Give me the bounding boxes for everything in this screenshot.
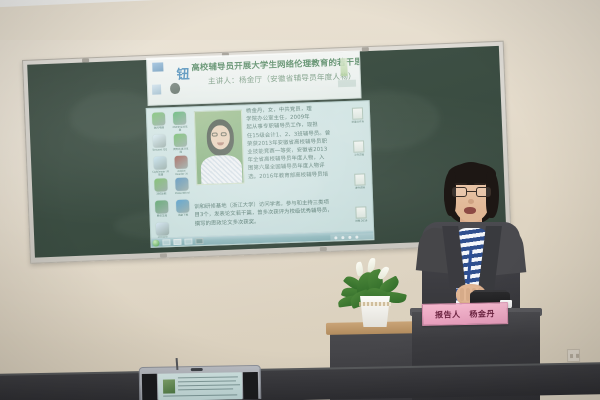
slide-body: 我的电脑360安全浏览器Tencent QQ搜狗高速浏览器CAJViewer 浏… [146,100,375,248]
desktop-file-icon[interactable]: 课件资料 [351,173,369,192]
flower-pot [358,296,392,327]
file-icon-label: 讲稿 2016 [353,219,370,226]
desktop-icon-label: CAJViewer 浏览器 [152,170,169,177]
desktop-file-icon[interactable]: 新建文件夹 [349,107,367,126]
desktop-file-icon[interactable]: 讲稿 2016 [352,206,370,225]
desktop-icon[interactable]: 360安全浏览器 [171,112,189,132]
placard-role-label: 报告人 [435,309,461,321]
file-icon-label: 新建文件夹 [349,120,366,127]
file-icon-label: 课件资料 [352,186,369,193]
laptop-speaker [142,374,157,400]
qq-penguin-icon [170,83,180,94]
status-strip [338,80,356,88]
taskbar-item[interactable] [162,240,170,246]
desktop-icon-label: PowerWord [174,191,191,198]
laptop-speaker [243,372,258,399]
file-icon-glyph [353,140,364,152]
laptop-slide-thumbnail [163,379,175,393]
desktop-icon[interactable]: 我的电脑 [150,112,168,132]
desktop-icon[interactable]: Tencent QQ [151,134,169,154]
windows-start-orb-icon[interactable] [152,239,159,246]
desktop-icon-glyph [155,200,168,213]
desktop-icon-glyph [175,178,188,191]
pot-decorative-band [359,302,391,306]
desktop-icon-glyph [176,200,189,213]
desktop-icon-glyph [174,134,187,147]
desktop-icon-label: 搜狗高速浏览器 [172,147,189,154]
desktop-icon[interactable]: 360压缩 [152,178,170,198]
desktop-icon-glyph [173,112,186,125]
system-tray[interactable] [330,233,374,241]
taskbar-item[interactable] [184,239,192,245]
shield-icon[interactable] [348,235,351,238]
desktop-icon-label: 360安全浏览器 [171,125,188,132]
slide-bio-text-wide: 训和研修基地（浙江大学）访问学者。参与和主持三类项目3个，发表论文若干篇，曾多次… [194,197,371,228]
file-icon-glyph [352,107,363,119]
name-placard: 报告人 杨金丹 [422,302,508,326]
eyeglasses-icon [452,187,492,198]
volume-icon[interactable] [341,236,344,239]
blackboard-clip [82,58,89,62]
file-icon-label: 工作文档 [350,153,367,160]
desktop-icon-label: 我的电脑 [150,126,167,133]
desktop-icon[interactable]: Adobe Reader XI [172,155,190,175]
slide-title: 高校辅导员开展大学生网络伦理教育的若干思考 [191,56,361,73]
app-icon [152,84,161,94]
desktop-icon-glyph [174,156,187,169]
laptop-screen[interactable] [158,372,242,400]
network-icon[interactable] [334,236,337,239]
brand-logo-icon: 钮 [176,63,189,82]
desktop-icon[interactable]: 腾讯文档 [153,200,171,220]
wall-power-outlet [567,349,580,362]
desktop-icon[interactable]: 迅雷下载 [174,199,192,219]
slide-title-band: 钮 高校辅导员开展大学生网络伦理教育的若干思考 主讲人：杨金厅（安徽省辅导员年度… [146,50,362,105]
desktop-icon-glyph [154,178,167,191]
desktop-icon-label: 腾讯文档 [153,214,170,221]
desktop-icon-glyph [153,156,166,169]
file-icon-glyph [354,173,365,185]
desktop-icon-glyph [153,134,166,147]
desktop-icon[interactable]: CAJViewer 浏览器 [151,156,169,176]
desktop-icon-label: 迅雷下载 [174,213,191,220]
desktop-icon[interactable]: PowerWord [173,177,191,197]
desktop-icon-column: 我的电脑360安全浏览器Tencent QQ搜狗高速浏览器CAJViewer 浏… [149,109,197,236]
file-icon-glyph [355,206,366,218]
desktop-icon-glyph [152,112,165,125]
taskbar-item[interactable] [173,239,181,245]
taskbar-item-active[interactable] [195,238,203,244]
decorative-bar-icon [340,58,348,76]
presentation-laptop [139,365,262,400]
desktop-file-icon[interactable]: 工作文档 [350,140,368,159]
desktop-icon[interactable]: 搜狗高速浏览器 [172,133,190,153]
app-icon [152,62,163,71]
clock-icon[interactable] [355,235,358,238]
desktop-icon-glyph [156,222,169,235]
placard-name-label: 杨金丹 [469,308,495,320]
projected-presentation: 钮 高校辅导员开展大学生网络伦理教育的若干思考 主讲人：杨金厅（安徽省辅导员年度… [144,50,377,256]
desktop-icon-label: Tencent QQ [151,148,168,155]
desktop-icon-label: 360压缩 [153,192,170,199]
desktop-icon-label: Adobe Reader XI [173,169,190,176]
classroom-scene: 钮 高校辅导员开展大学生网络伦理教育的若干思考 主讲人：杨金厅（安徽省辅导员年度… [0,0,600,400]
slide-portrait-photo [194,110,245,186]
